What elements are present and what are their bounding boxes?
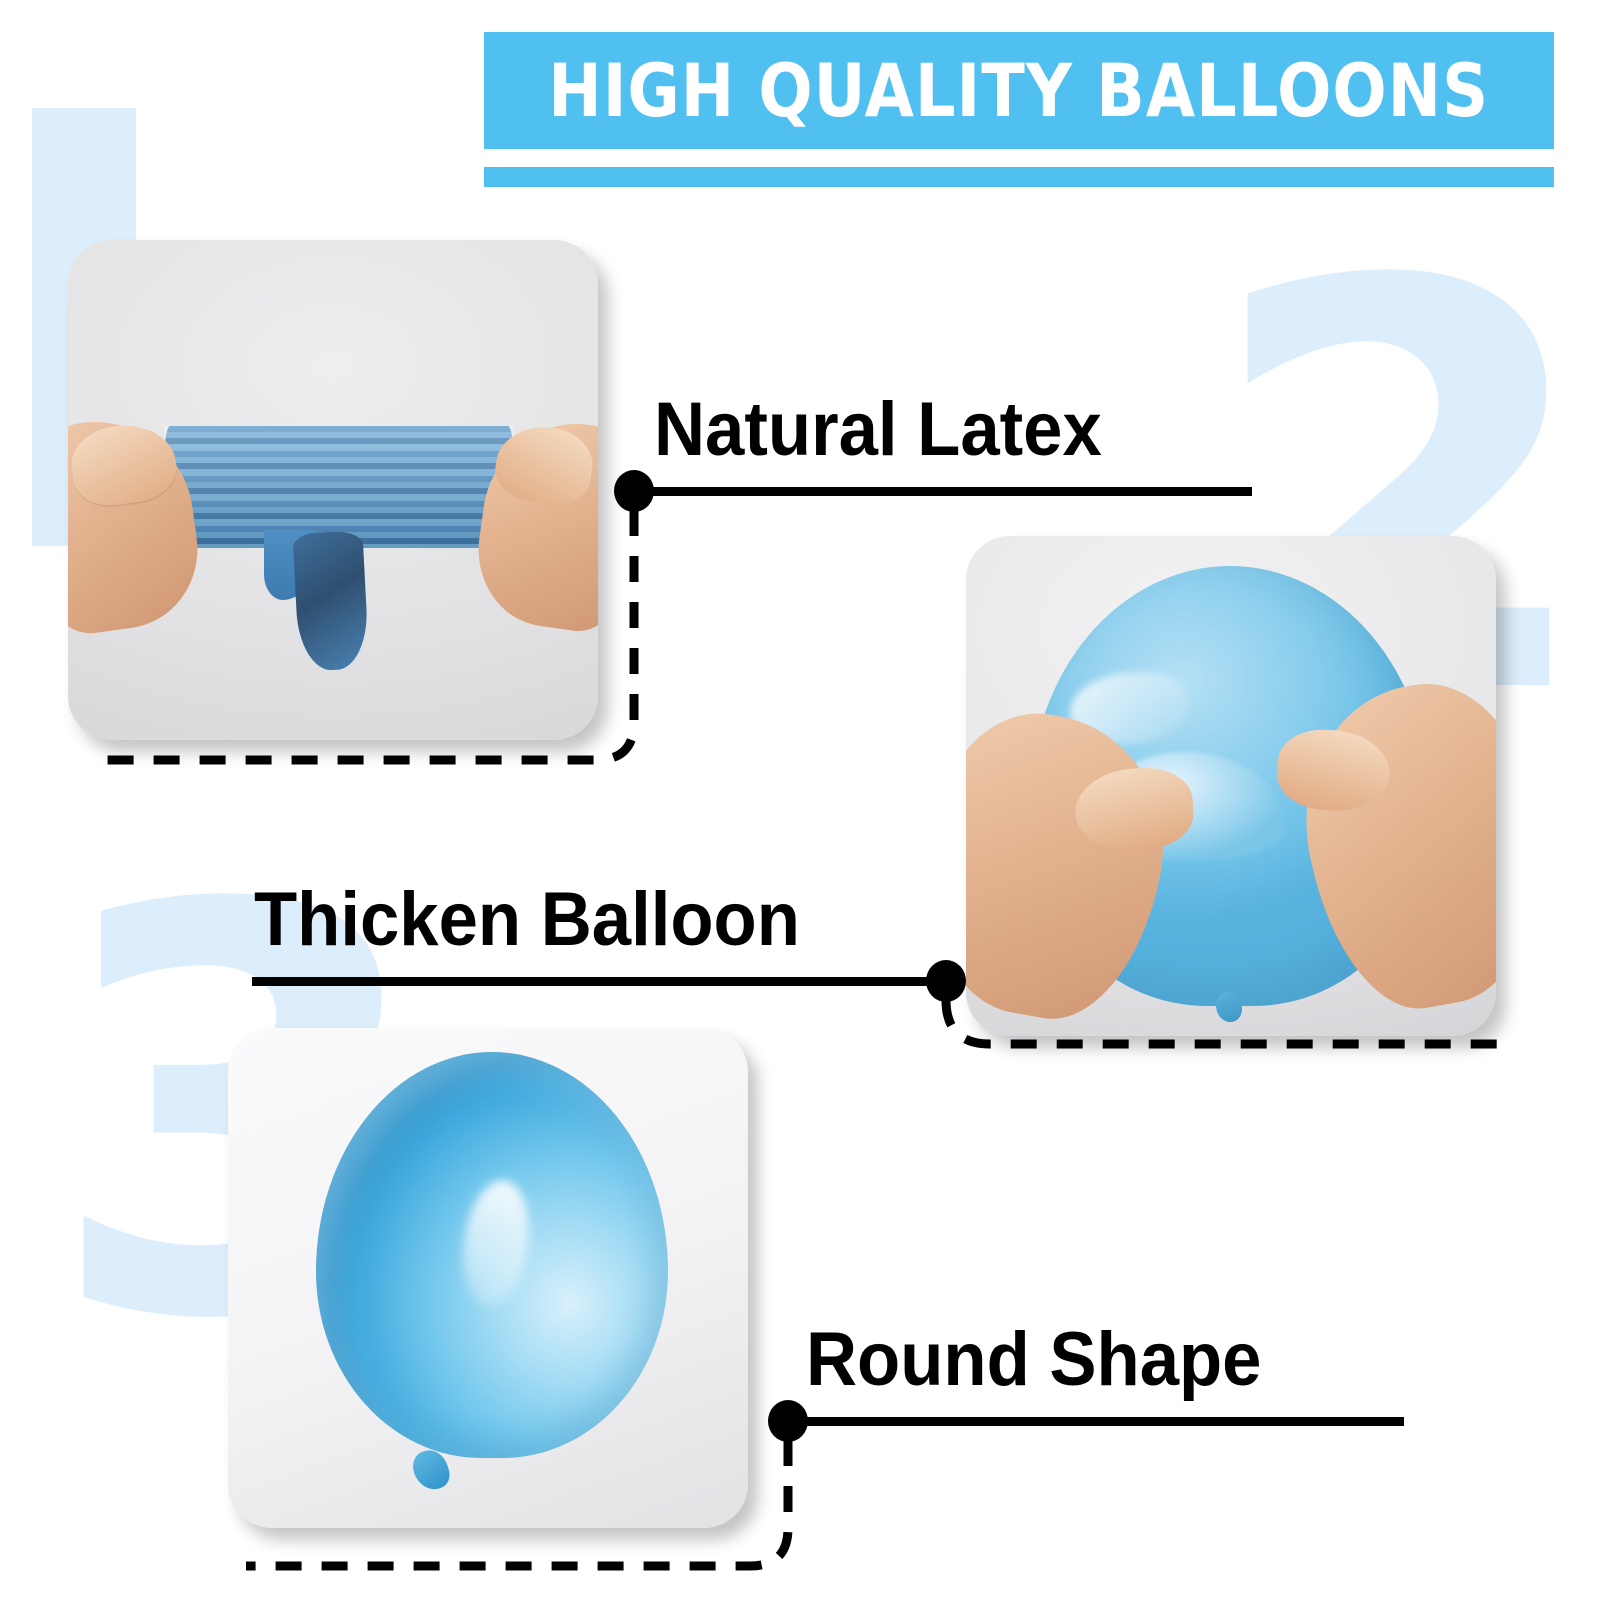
photo-thicken-balloon-image (966, 536, 1496, 1036)
photo-round-shape (228, 1028, 748, 1528)
page-title: HIGH QUALITY BALLOONS (549, 47, 1490, 133)
feature-label-thicken-balloon: Thicken Balloon (254, 882, 800, 958)
header-underbar (484, 167, 1554, 187)
feature-label-round-shape: Round Shape (806, 1322, 1261, 1398)
feature-rule-2 (252, 977, 942, 986)
header-banner: HIGH QUALITY BALLOONS (484, 32, 1554, 149)
feature-rule-1 (636, 487, 1252, 496)
photo-thicken-balloon (966, 536, 1496, 1036)
photo-natural-latex-image (68, 240, 598, 740)
latex-neck (292, 530, 369, 671)
stretched-latex-band (164, 426, 514, 548)
feature-label-natural-latex: Natural Latex (654, 392, 1102, 468)
feature-dot-1 (614, 470, 654, 512)
feature-dot-3 (768, 1400, 808, 1442)
photo-round-shape-image (228, 1028, 748, 1528)
photo-natural-latex (68, 240, 598, 740)
feature-rule-3 (788, 1417, 1404, 1426)
feature-dot-2 (926, 960, 966, 1002)
